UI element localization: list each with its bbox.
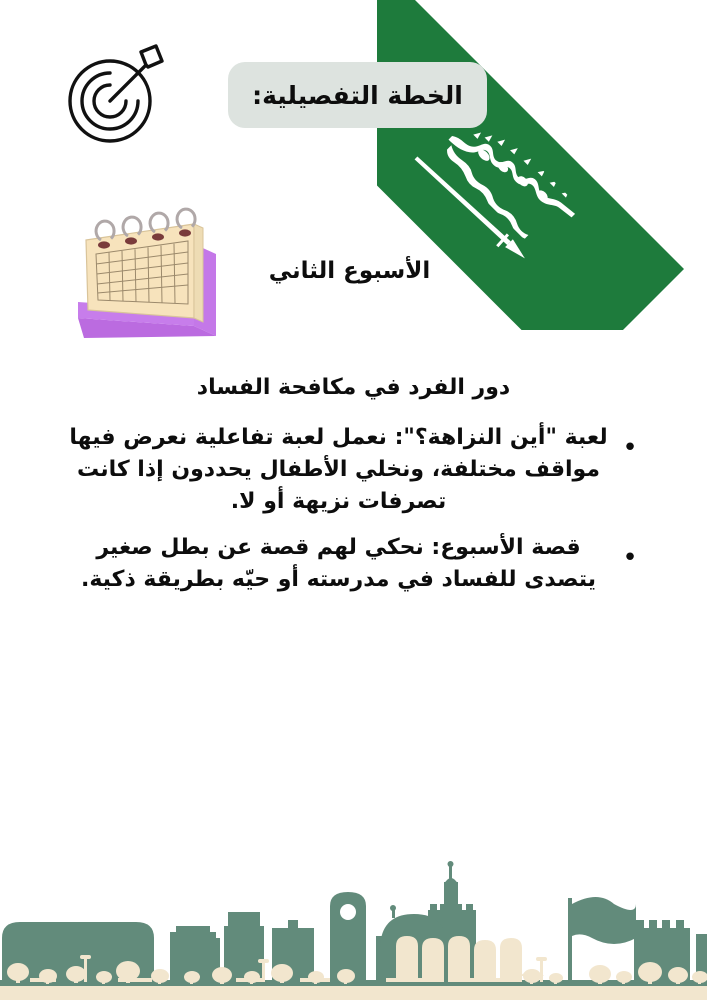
target-dart-icon (62, 42, 172, 147)
subject-heading: دور الفرد في مكافحة الفساد (0, 375, 707, 400)
page-title: الخطة التفصيلية: (252, 81, 463, 110)
bullet-marker-icon (613, 422, 647, 461)
city-skyline-illustration (0, 850, 707, 1000)
subject-label: دور الفرد في مكافحة الفساد (197, 375, 510, 400)
list-item: قصة الأسبوع: نحكي لهم قصة عن بطل صغير يت… (60, 532, 647, 596)
week-label: الأسبوع الثاني (269, 258, 431, 284)
tower-clock-circle-icon (340, 904, 356, 920)
bullet-text: لعبة "أين النزاهة؟": نعمل لعبة تفاعلية ن… (60, 422, 613, 518)
list-item: لعبة "أين النزاهة؟": نعمل لعبة تفاعلية ن… (60, 422, 647, 518)
bullet-marker-icon (613, 532, 647, 571)
slide-root: الخطة التفصيلية: (0, 0, 707, 1000)
bullet-text: قصة الأسبوع: نحكي لهم قصة عن بطل صغير يت… (60, 532, 613, 596)
page-title-pill: الخطة التفصيلية: (228, 62, 487, 128)
week-heading: الأسبوع الثاني (0, 258, 707, 284)
bullet-list: لعبة "أين النزاهة؟": نعمل لعبة تفاعلية ن… (60, 422, 647, 611)
